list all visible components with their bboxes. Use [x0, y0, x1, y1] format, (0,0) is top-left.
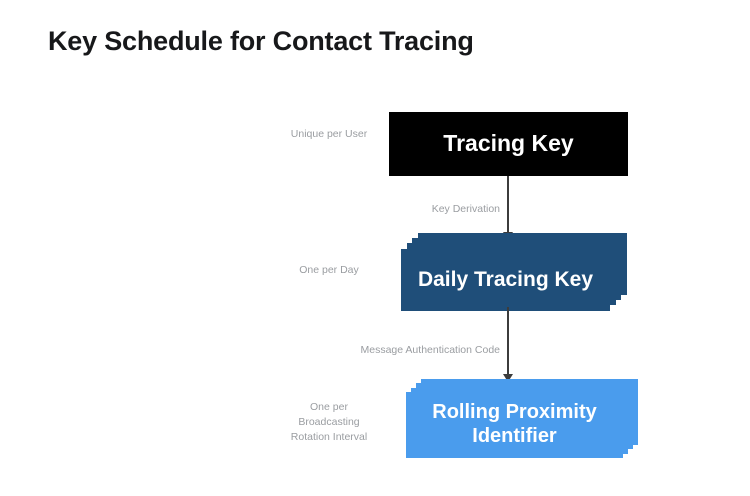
- edge-label-message-authentication-code: Message Authentication Code: [300, 344, 500, 356]
- slide-canvas: Key Schedule for Contact Tracing Unique …: [0, 0, 750, 496]
- node-daily-tracing-key[interactable]: Daily Tracing Key: [401, 233, 627, 307]
- node-tracing-key[interactable]: Tracing Key: [389, 112, 628, 176]
- side-label-one-per-day: One per Day: [270, 263, 388, 278]
- node-rolling-proximity-identifier[interactable]: Rolling Proximity Identifier: [406, 379, 638, 458]
- arrow-key-derivation-line: [507, 176, 509, 236]
- edge-label-key-derivation: Key Derivation: [330, 203, 500, 215]
- node-rolling-proximity-identifier-label: Rolling Proximity Identifier: [406, 392, 623, 458]
- node-daily-tracing-key-label: Daily Tracing Key: [401, 249, 610, 311]
- side-label-one-per-broadcasting-rotation-interval: One per Broadcasting Rotation Interval: [270, 400, 388, 446]
- side-label-unique-per-user: Unique per User: [270, 127, 388, 142]
- page-title: Key Schedule for Contact Tracing: [48, 26, 474, 57]
- arrow-mac-line: [507, 307, 509, 377]
